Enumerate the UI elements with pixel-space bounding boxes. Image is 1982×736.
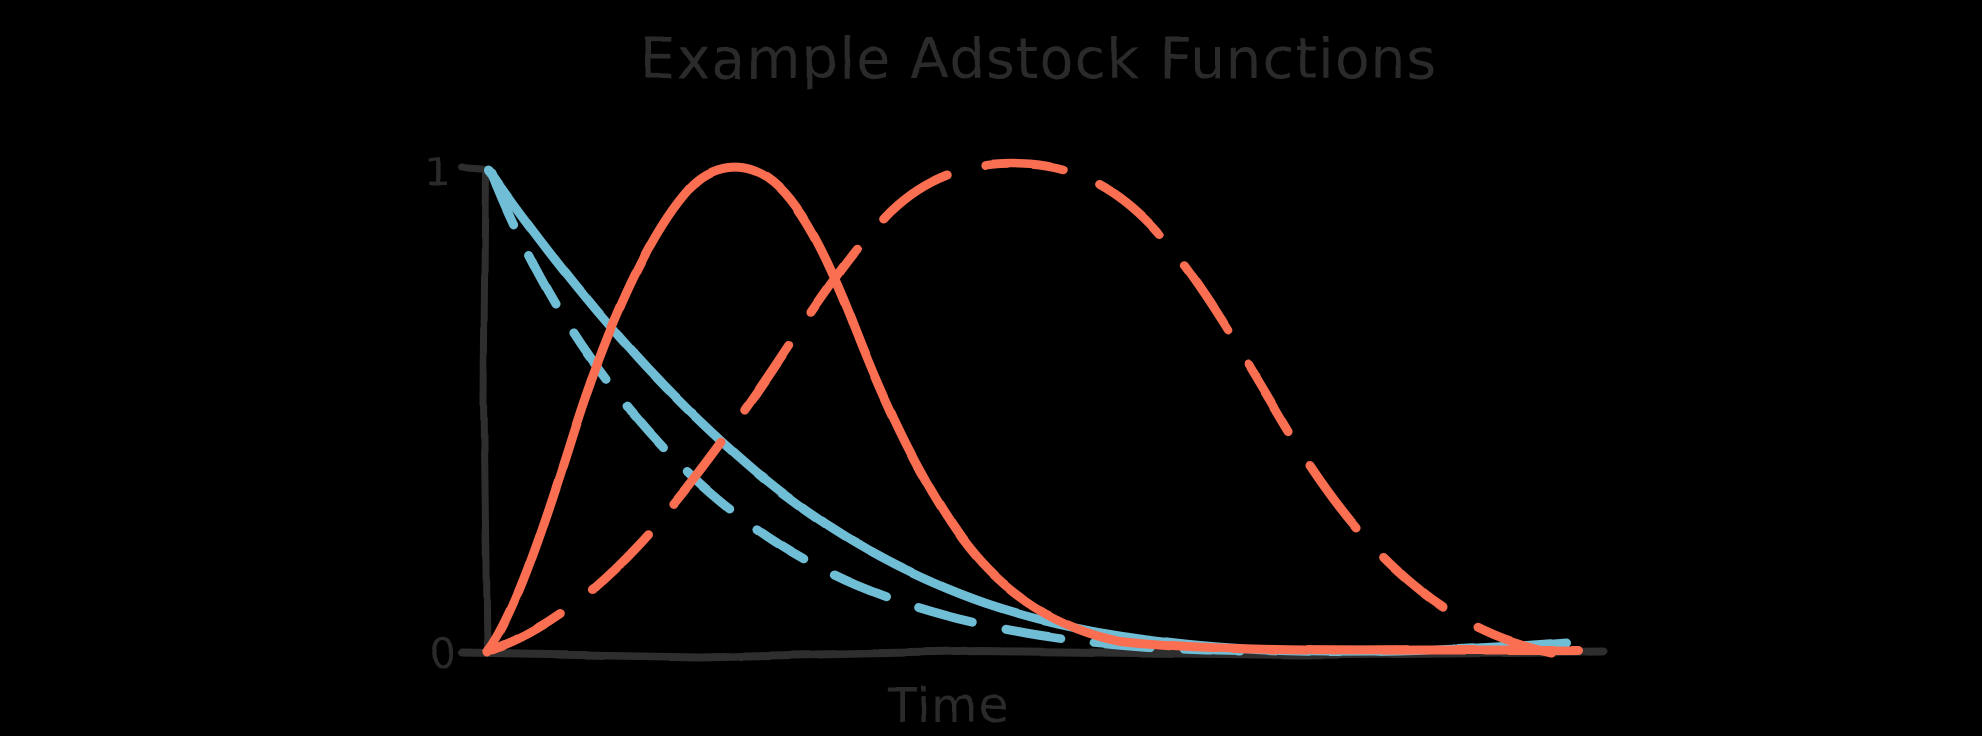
y-tick-label-top: 1 <box>425 150 450 196</box>
y-axis-tick-top <box>462 166 487 168</box>
series-delayed-adstock-short-peak <box>487 167 1578 652</box>
curve-line <box>487 167 1578 652</box>
y-axis-line <box>484 168 487 654</box>
x-axis-label: Time <box>887 678 1009 734</box>
adstock-figure: Example Adstock Functions Time 1 0 <box>0 0 1982 736</box>
chart-title-text: Example Adstock Functions <box>640 27 1437 92</box>
y-tick-label-bottom-text: 0 <box>430 629 457 678</box>
x-axis-label-text: Time <box>887 678 1009 734</box>
y-tick-label-bottom: 0 <box>430 629 457 678</box>
chart-canvas: Example Adstock Functions Time 1 0 <box>0 0 1982 736</box>
y-tick-label-top-text: 1 <box>425 150 450 196</box>
chart-title: Example Adstock Functions <box>640 27 1437 92</box>
